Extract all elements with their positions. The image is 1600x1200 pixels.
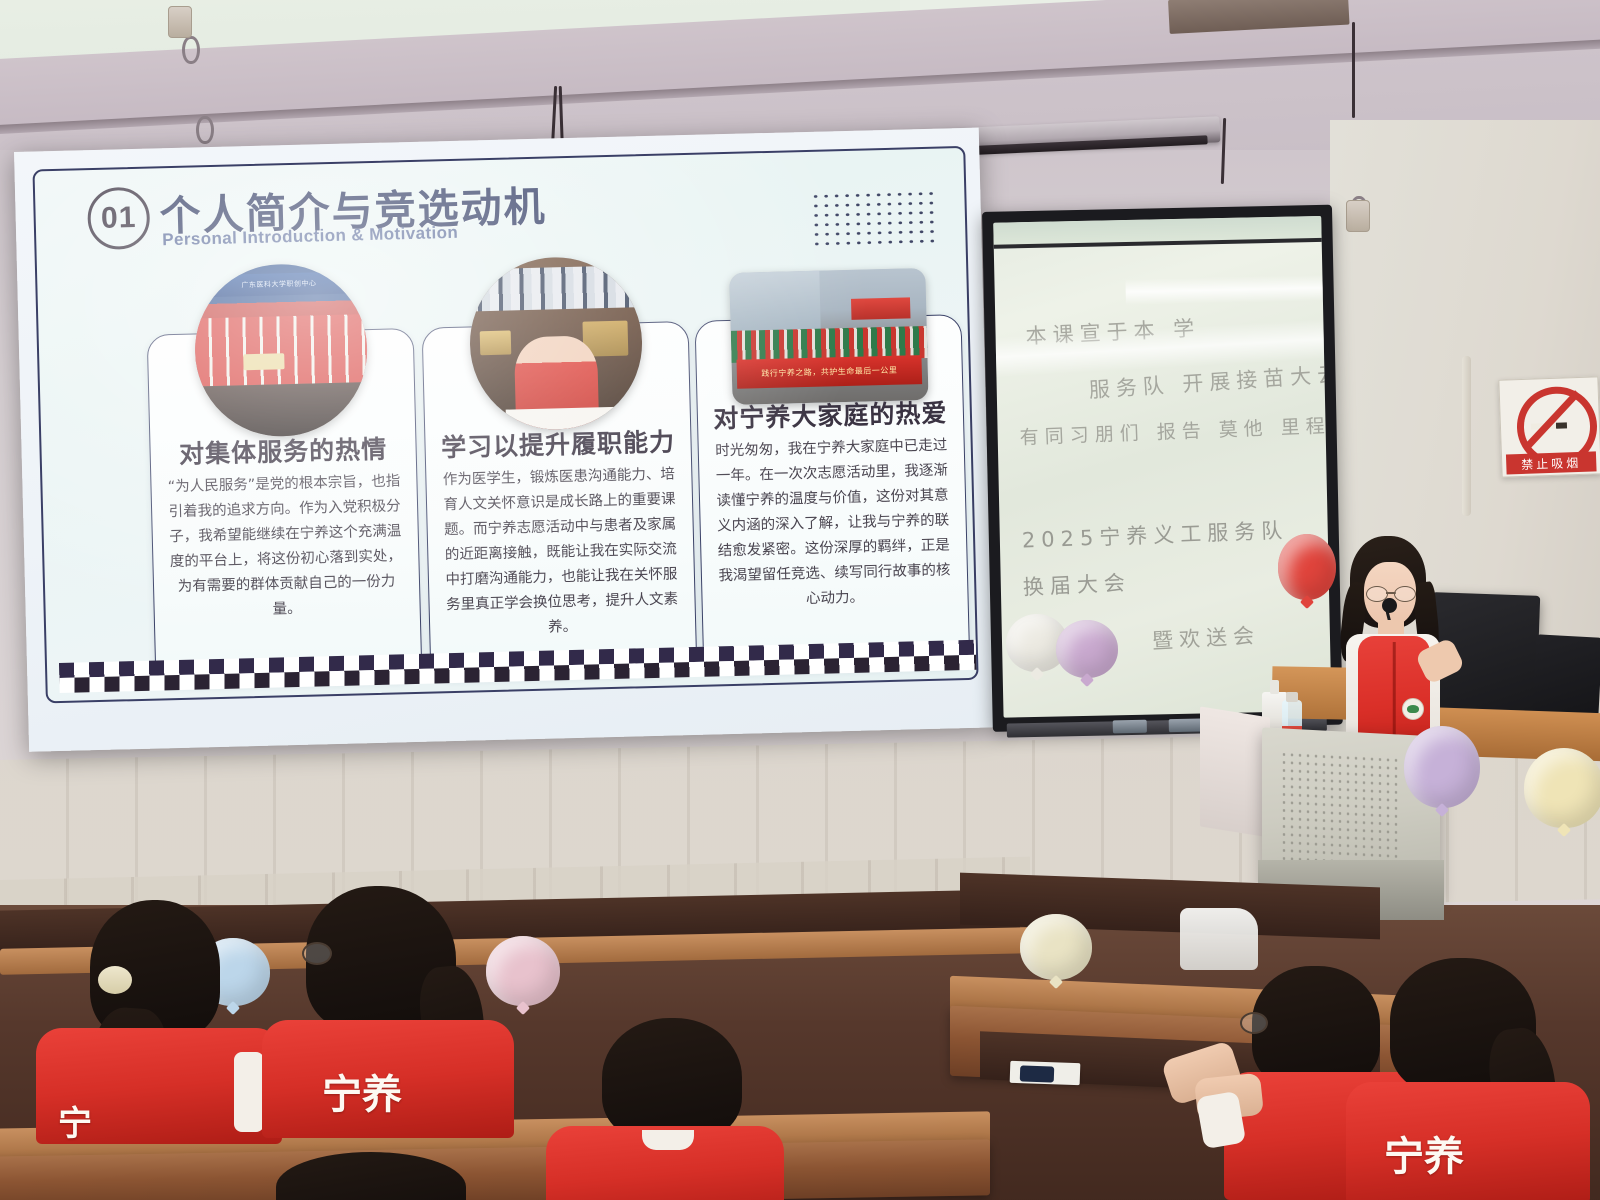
dot-grid-decoration [810,189,939,248]
student-hair [602,1018,742,1142]
card-learning-capability: 学习以提升履职能力 作为医学生，锻炼医患沟通能力、培育人文关怀意识是成长路上的重… [422,321,698,680]
vest-character: 宁 [58,1096,92,1145]
whiteboard-text-line: 2025宁养义工服务队 [1021,514,1288,554]
wall-plate [168,6,192,38]
card-love-for-family: 践行宁养之路，共护生命最后一公里 对宁养大家庭的热爱 时光匆匆，我在宁养大家庭中… [694,314,970,673]
group-photo-volunteers: 广东医科大学职创中心 [192,262,368,438]
ceiling-hook [196,116,214,144]
audience-student-left: 宁 [36,900,286,1140]
card-body: “为人民服务”是党的根本宗旨，也指引着我的追求方向。作为入党积极分子，我希望能继… [167,469,404,624]
student-shirt-sleeve [1196,1091,1246,1150]
classroom-presentation-scene: 01 个人简介与竞选动机 Personal Introduction & Mot… [0,0,1600,1200]
wall-pipe [1462,356,1471,516]
whiteboard-text-line: 有同习朋们 报告 莫他 里程 [1019,411,1331,450]
audience-student-foreground [276,1152,476,1200]
card-body: 作为医学生，锻炼医患沟通能力、培育人文关怀意识是成长路上的重要课题。而宁养志愿活… [442,462,679,642]
street-event-group-photo: 践行宁养之路，共护生命最后一公里 [729,268,928,405]
whiteboard-top-band [993,216,1321,249]
ceiling-hook [182,36,200,64]
podium-speaker-grille [1280,750,1398,874]
slide-number: 01 [87,187,151,251]
student-volunteer-vest [1346,1082,1590,1200]
wall-plate [1346,200,1370,232]
volunteer-badge [1402,698,1424,720]
slide-cards-container: 广东医科大学职创中心 对集体服务的热情 “为人民服务”是党的根本宗旨，也指引着我… [37,260,976,703]
glasses-icon [302,942,332,965]
headset-microphone-icon [1382,598,1397,613]
whiteboard-text-line: 换届大会 [1022,567,1131,602]
no-smoking-label: 禁止吸烟 [1506,451,1597,474]
card-title: 学习以提升履职能力 [425,422,691,465]
podium-side-panel [1200,706,1270,837]
card-body: 时光匆匆，我在宁养大家庭中已走过一年。在一次次志愿活动里，我逐渐读懂宁养的温度与… [714,433,951,613]
photo-banner-text: 践行宁养之路，共护生命最后一公里 [737,355,922,389]
volunteer-at-desk-photo [467,255,643,431]
card-title: 对宁养大家庭的热爱 [697,393,963,436]
student-hair [276,1152,466,1200]
whiteboard-text-line: 暨欢送会 [1151,619,1261,655]
vest-character: 宁养 [322,1062,402,1120]
phone-on-desk[interactable] [1020,1065,1055,1082]
plastic-bag [1180,908,1258,970]
whiteboard-eraser[interactable] [1169,718,1203,732]
slide-canvas: 01 个人简介与竞选动机 Personal Introduction & Mot… [32,146,978,703]
audience-student-right-2: 宁养 [1346,958,1596,1200]
hair-scrunchie [98,966,132,994]
balloon-cream-desk [1020,914,1092,980]
card-personal-passion: 广东医科大学职创中心 对集体服务的热情 “为人民服务”是党的根本宗旨，也指引着我… [147,328,423,687]
glasses-icon [1240,1012,1268,1034]
balloon-cream-podium [1524,748,1600,828]
hanging-cable [1352,22,1355,118]
whiteboard-glare [1126,275,1332,306]
card-title: 对集体服务的热情 [150,429,416,472]
audience-student-center [546,1018,786,1200]
student-collar [642,1130,694,1150]
projection-screen: 01 个人简介与竞选动机 Personal Introduction & Mot… [14,128,994,752]
photo-banner-text: 广东医科大学职创中心 [203,271,355,297]
balloon-lavender-podium [1404,726,1480,808]
audience-student-left-2: 宁养 [256,886,526,1136]
balloon-purple-whiteboard [1056,620,1118,678]
vest-character: 宁养 [1384,1124,1464,1182]
no-smoking-sign: 禁止吸烟 [1498,376,1600,477]
whiteboard-eraser[interactable] [1113,720,1147,734]
